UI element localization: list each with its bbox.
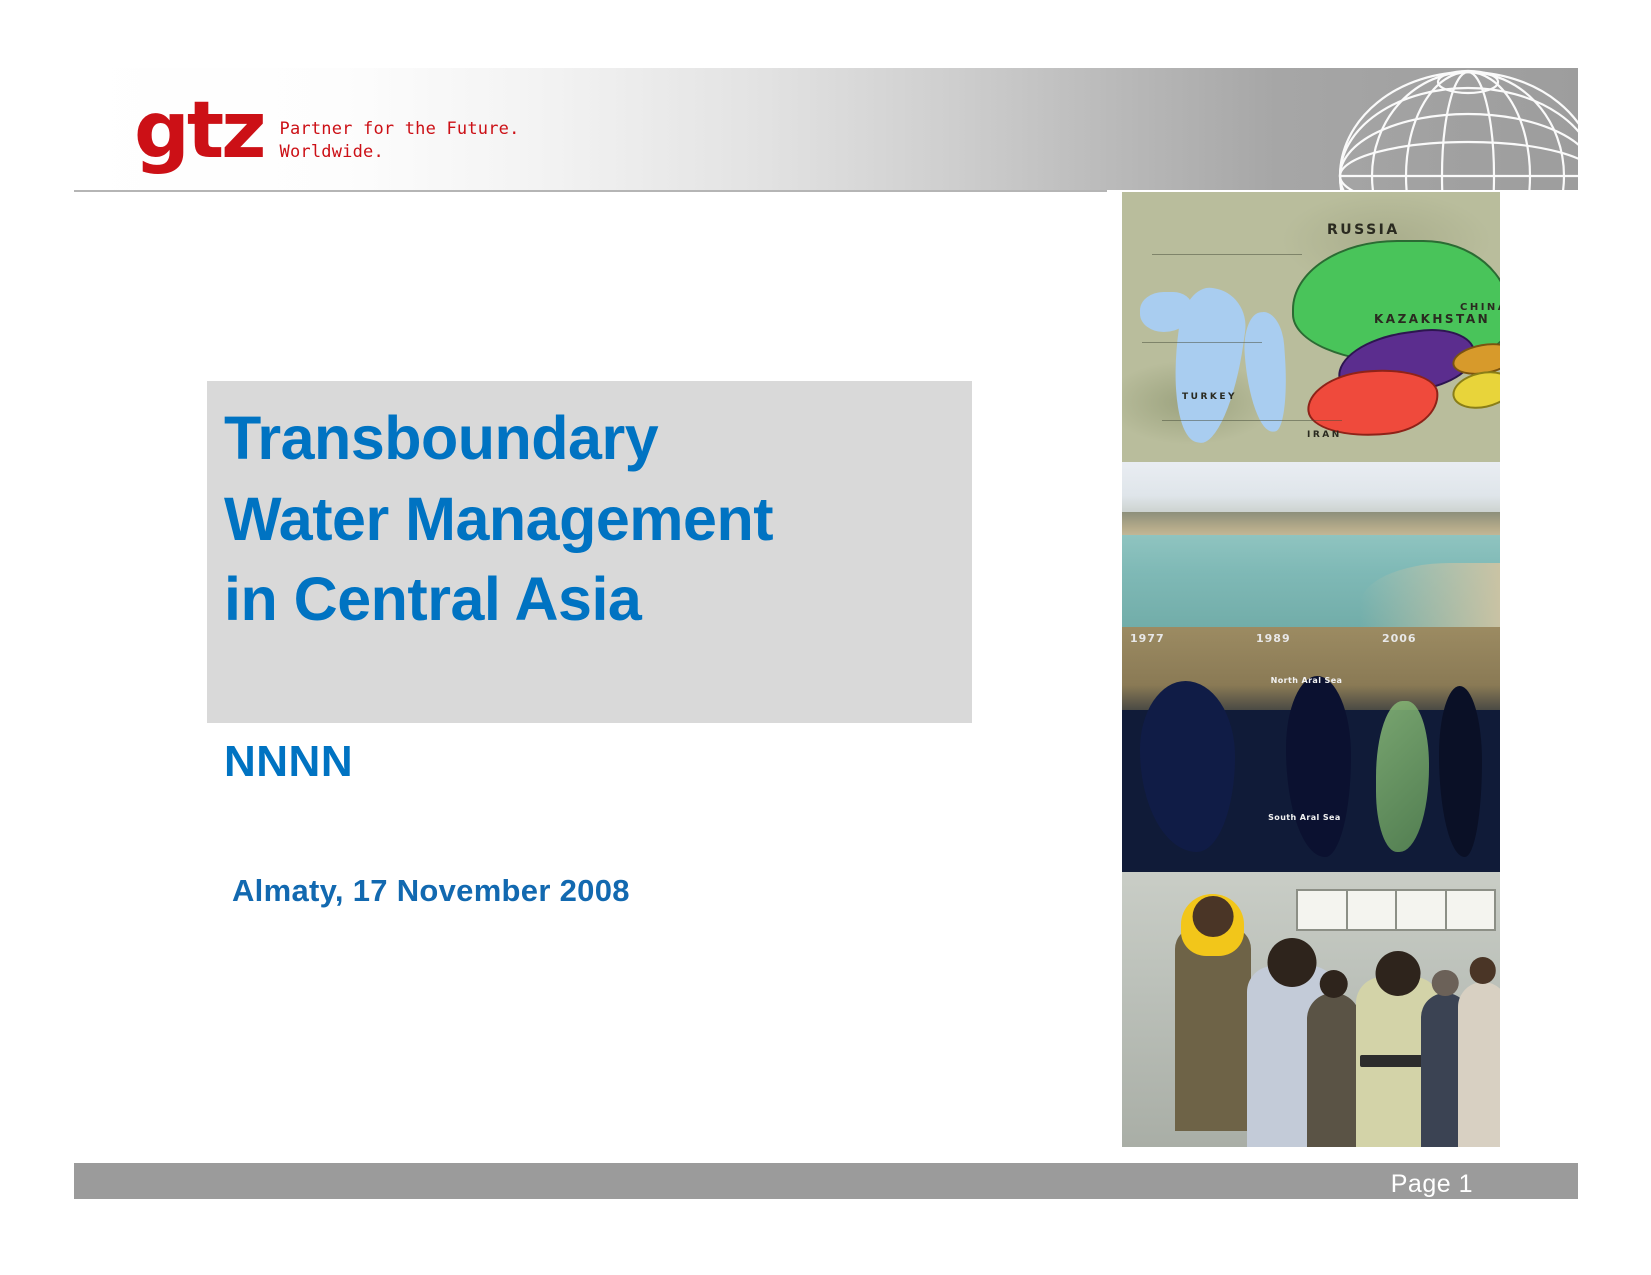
aral-year-label: 1989 bbox=[1256, 632, 1291, 645]
gtz-logo-tagline: Partner for the Future. Worldwide. bbox=[280, 118, 520, 165]
image-strip: RUSSIA KAZAKHSTAN CHINA IRAN TURKEY 1977… bbox=[1122, 192, 1500, 1147]
field-visit-group-photo bbox=[1122, 872, 1500, 1147]
page-title: Transboundary Water Management in Centra… bbox=[224, 398, 984, 640]
aral-year-label: 2006 bbox=[1382, 632, 1417, 645]
person-dark-shirt bbox=[1307, 993, 1360, 1147]
tagline-line-2: Worldwide. bbox=[280, 141, 520, 164]
map-label-iran: IRAN bbox=[1307, 430, 1342, 440]
title-line-3: in Central Asia bbox=[224, 559, 984, 640]
person-with-turban bbox=[1175, 927, 1251, 1131]
aral-caption-south: South Aral Sea bbox=[1268, 813, 1341, 822]
aral-caption-north: North Aral Sea bbox=[1271, 676, 1343, 685]
title-line-1: Transboundary bbox=[224, 398, 984, 479]
map-label-china: CHINA bbox=[1460, 302, 1500, 313]
title-line-2: Water Management bbox=[224, 479, 984, 560]
wireframe-globe-icon bbox=[1318, 68, 1578, 190]
map-label-kazakhstan: KAZAKHSTAN bbox=[1374, 312, 1490, 326]
aral-sea-satellite-series: 1977 1989 North Aral Sea South Aral Sea … bbox=[1122, 627, 1500, 872]
presenter-placeholder: NNNN bbox=[224, 737, 353, 787]
event-date-location: Almaty, 17 November 2008 bbox=[232, 873, 630, 909]
aral-year-label: 1977 bbox=[1130, 632, 1165, 645]
map-label-russia: RUSSIA bbox=[1327, 222, 1400, 238]
aral-tile-2006: 2006 bbox=[1374, 627, 1500, 872]
tagline-line-1: Partner for the Future. bbox=[280, 118, 520, 141]
page-number: Page 1 bbox=[1391, 1170, 1473, 1199]
central-asia-political-map: RUSSIA KAZAKHSTAN CHINA IRAN TURKEY bbox=[1122, 192, 1500, 462]
header-divider-line bbox=[74, 190, 1107, 192]
aral-tile-1977: 1977 bbox=[1122, 627, 1248, 872]
window-row bbox=[1296, 889, 1497, 932]
person-right-edge bbox=[1458, 982, 1500, 1147]
aral-tile-1989: 1989 North Aral Sea South Aral Sea bbox=[1248, 627, 1374, 872]
gtz-logo-mark: gtz bbox=[134, 100, 264, 164]
presentation-slide: gtz Partner for the Future. Worldwide. T… bbox=[0, 0, 1651, 1275]
gtz-logo: gtz Partner for the Future. Worldwide. bbox=[134, 100, 520, 165]
map-label-turkey: TURKEY bbox=[1182, 392, 1237, 402]
shoreline-water-photo bbox=[1122, 462, 1500, 627]
footer-bar bbox=[74, 1163, 1578, 1199]
